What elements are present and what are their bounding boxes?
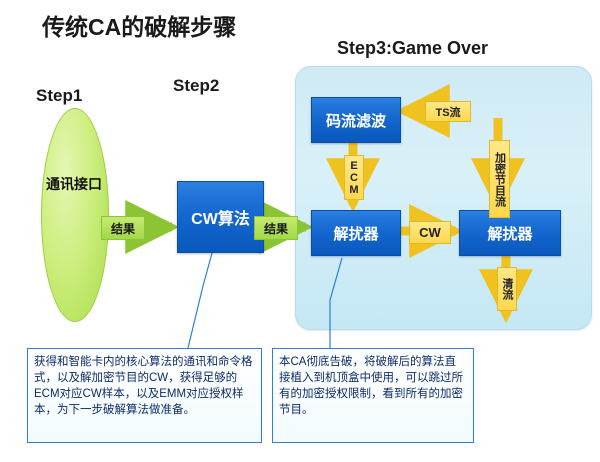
bitstream-filter-box[interactable]: 码流滤波 xyxy=(311,97,401,143)
step1-label: Step1 xyxy=(36,86,82,106)
descrambler-right-box[interactable]: 解扰器 xyxy=(459,210,561,256)
edge-label-cw: CW xyxy=(409,221,451,244)
edge-label-ecm: ECM xyxy=(344,155,364,200)
edge-label-clear-stream: 清流 xyxy=(497,267,517,311)
edge-label-ts-stream: TS流 xyxy=(425,101,471,122)
note-left: 获得和智能卡内的核心算法的通讯和命令格式，以及解加密节目的CW，获得足够的ECM… xyxy=(27,348,262,443)
step3-label: Step3:Game Over xyxy=(337,38,488,59)
cw-algorithm-box[interactable]: CW算法 xyxy=(177,181,264,253)
step2-label: Step2 xyxy=(173,76,219,96)
diagram-canvas: 传统CA的破解步骤 Step1 Step2 Step3:Game Over xyxy=(0,0,600,462)
edge-label-encrypted-program-stream: 加密节目流 xyxy=(489,140,510,218)
edge-label-result-1: 结果 xyxy=(101,216,145,240)
descrambler-left-box[interactable]: 解扰器 xyxy=(311,210,401,256)
page-title: 传统CA的破解步骤 xyxy=(42,8,236,42)
note-right: 本CA彻底告破，将破解后的算法直接植入到机顶盒中使用，可以跳过所有的加密授权限制… xyxy=(272,348,474,443)
interface-ellipse-label: 通讯接口 xyxy=(41,176,107,193)
edge-label-result-2: 结果 xyxy=(254,216,298,240)
interface-ellipse[interactable] xyxy=(41,108,109,322)
